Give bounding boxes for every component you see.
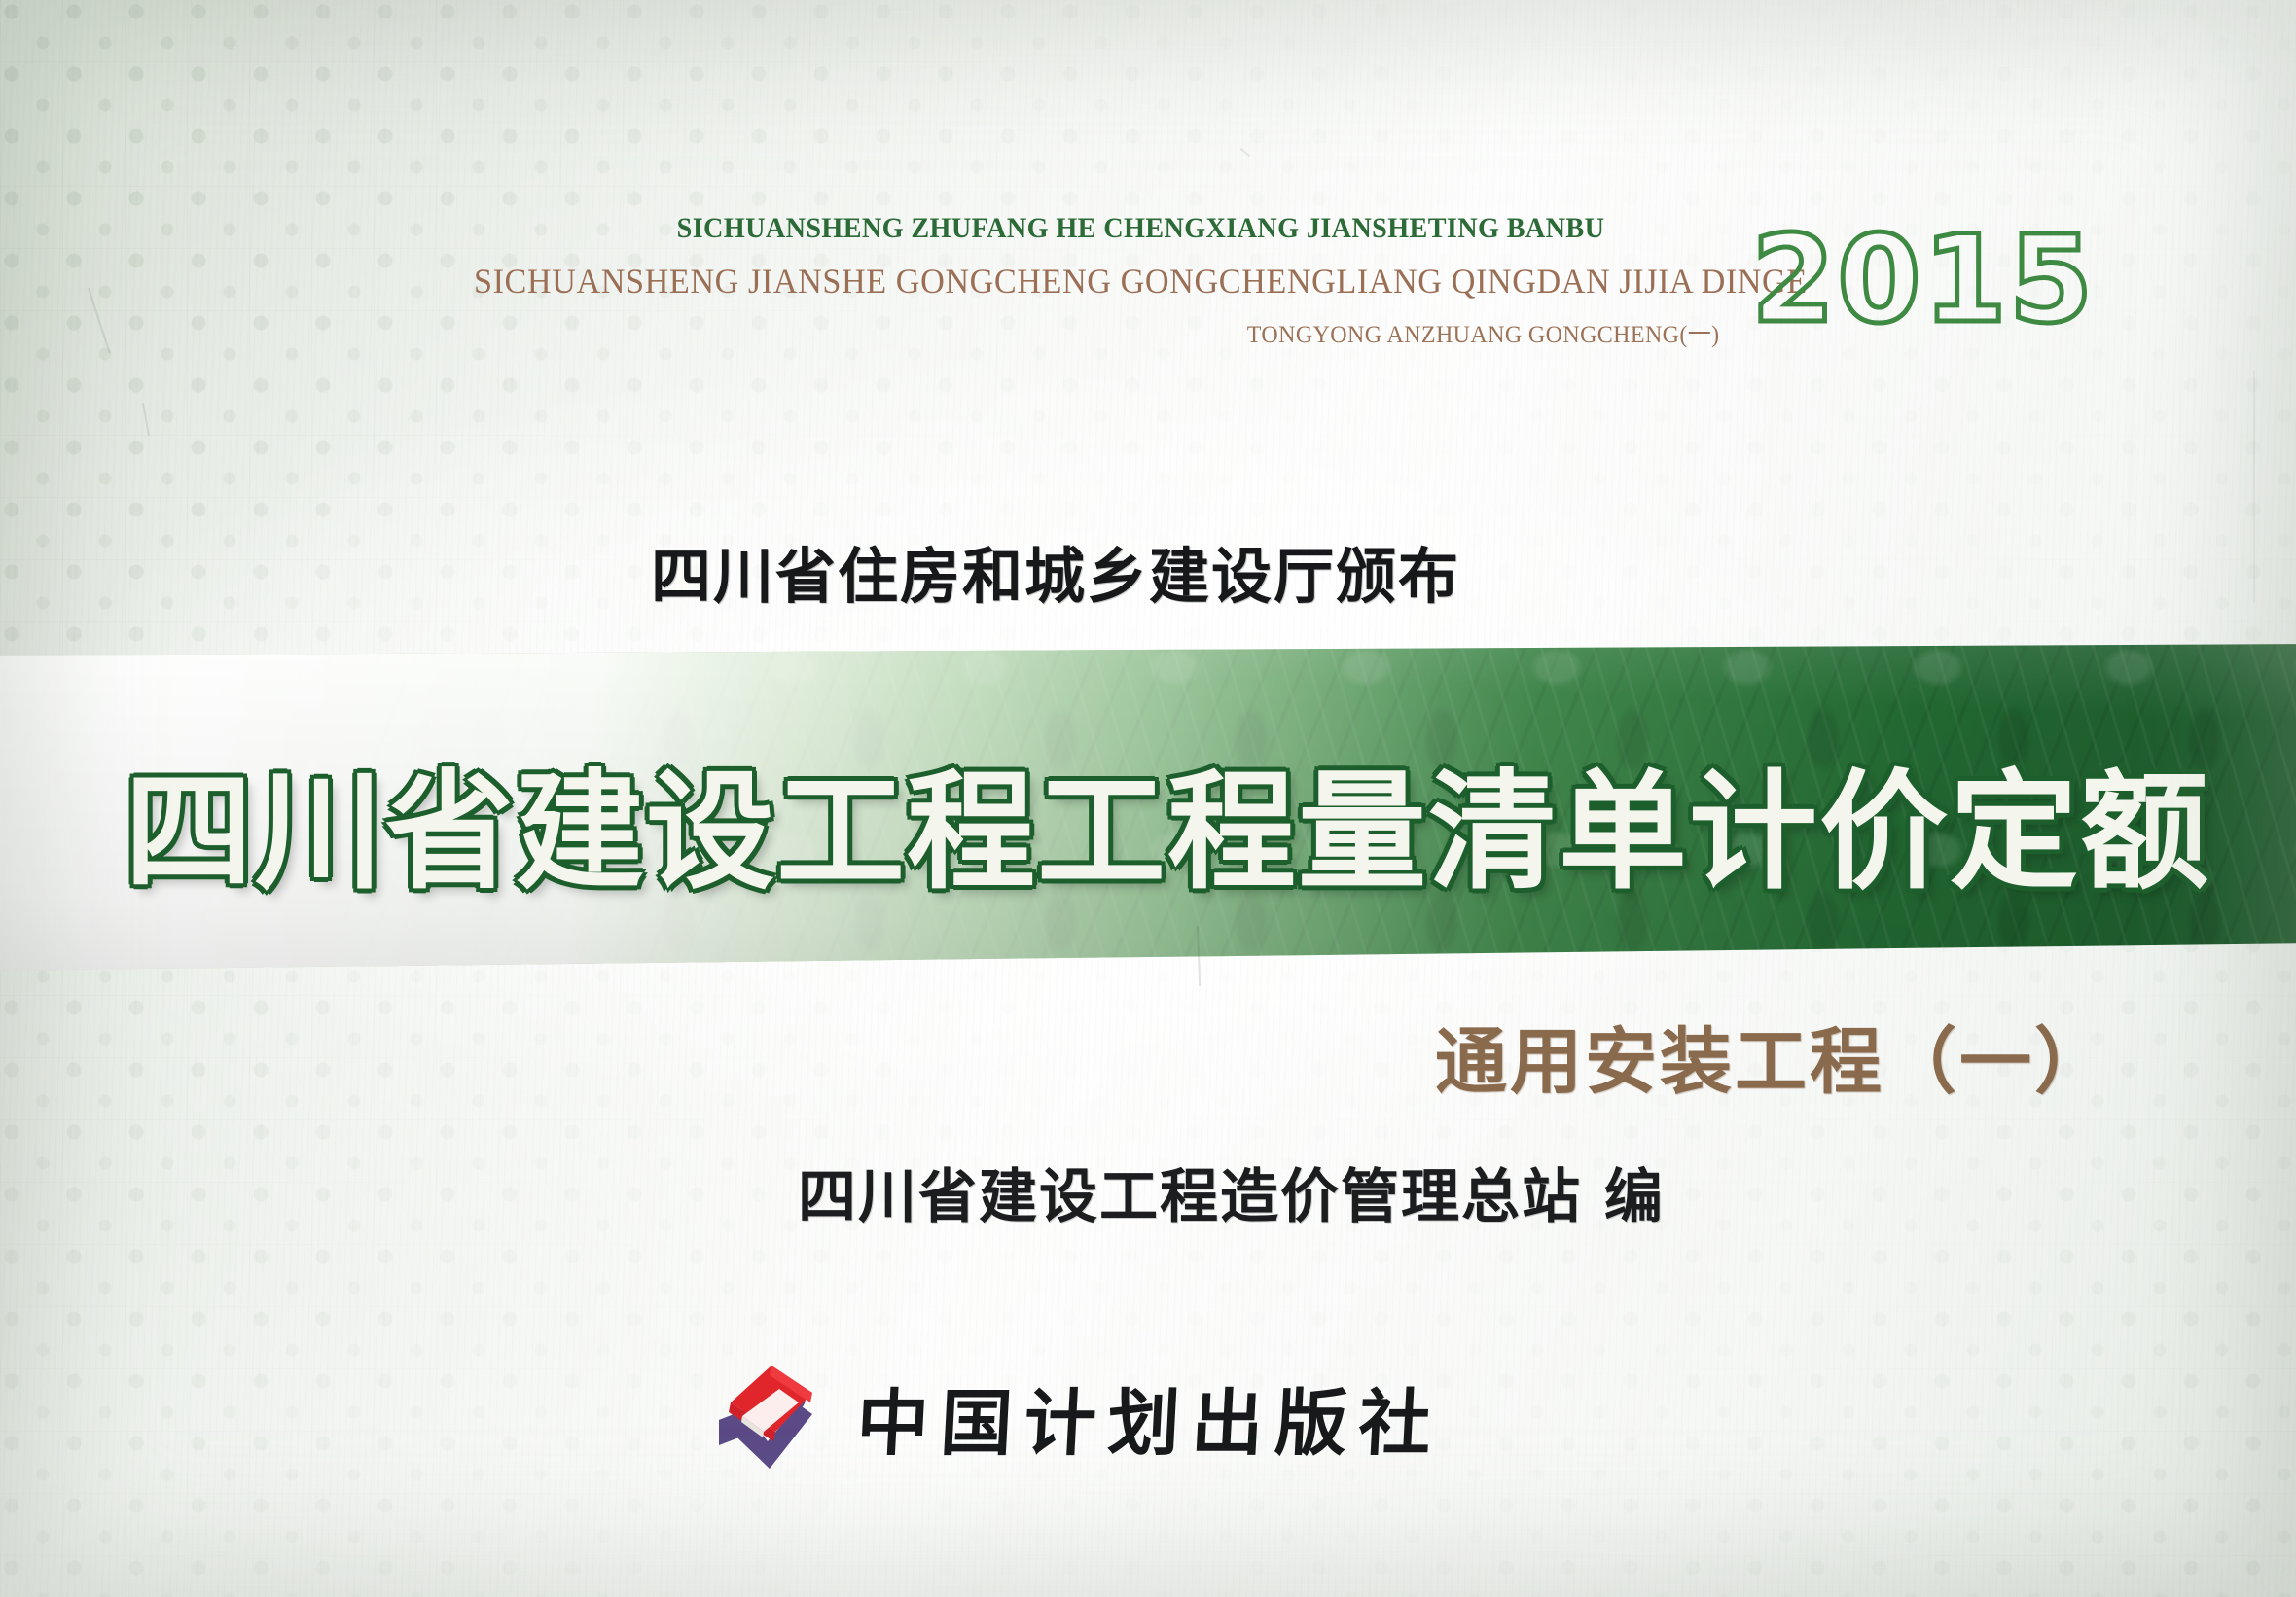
book-cover: SICHUANSHENG ZHUFANG HE CHENGXIANG JIANS… [0,0,2296,1597]
year-label: 2015 [1751,220,2095,340]
issuer-line: 四川省住房和城乡建设厅颁布 [0,527,2296,615]
compiler-line: 四川省建设工程造价管理总站 编 [798,1150,1665,1234]
publisher-name: 中国计划出版社 [854,1366,1446,1470]
publisher-block: 中国计划出版社 [0,1360,2296,1474]
volume-subtitle: 通用安装工程（一） [1435,1004,2109,1108]
scan-artifact [2253,370,2255,603]
publisher-logo-icon [707,1360,824,1474]
page-title: 四川省建设工程工程量清单计价定额 [0,768,2296,897]
